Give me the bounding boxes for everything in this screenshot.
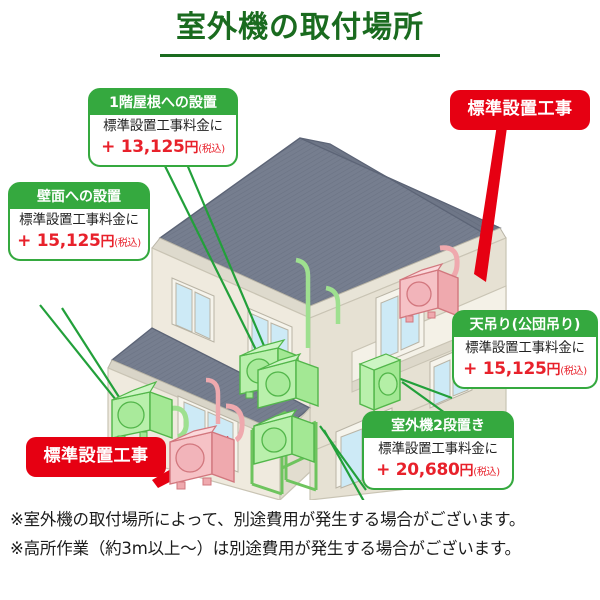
badge-standard-install-lower[interactable]: 標準設置工事	[26, 437, 166, 477]
badge-standard-install-upper[interactable]: 標準設置工事	[450, 90, 590, 130]
callout-roof-1f-price: + 13,125円(税込)	[96, 136, 230, 161]
ac-unit-ceiling-green	[360, 354, 400, 410]
callout-ceiling-hang-price: + 15,125円(税込)	[460, 358, 590, 383]
price-amount: 15,125	[483, 359, 547, 379]
callout-wall-body: 標準設置工事料金に + 15,125円(税込)	[10, 209, 148, 259]
footer-notes: ※室外機の取付場所によって、別途費用が発生する場合がございます。 ※高所作業（約…	[10, 505, 594, 563]
leader-wall-a	[40, 305, 120, 405]
price-prefix: +	[463, 359, 477, 379]
callout-wall-title: 壁面への設置	[10, 184, 148, 209]
price-tax: (税込)	[114, 238, 141, 249]
callout-two-tier-subtitle: 標準設置工事料金に	[370, 440, 506, 459]
footer-note-2: ※高所作業（約3m以上～）は別途費用が発生する場合がございます。	[10, 534, 594, 563]
callout-roof-1f-body: 標準設置工事料金に + 13,125円(税込)	[90, 115, 236, 165]
infographic-page: 室外機の取付場所	[0, 0, 600, 600]
footer-note-1: ※室外機の取付場所によって、別途費用が発生する場合がございます。	[10, 505, 594, 534]
price-prefix: +	[17, 231, 31, 251]
callout-wall[interactable]: 壁面への設置 標準設置工事料金に + 15,125円(税込)	[8, 182, 150, 261]
price-tax: (税込)	[198, 144, 225, 155]
callout-ceiling-hang[interactable]: 天吊り(公団吊り) 標準設置工事料金に + 15,125円(税込)	[452, 310, 598, 389]
price-unit: 円	[185, 140, 199, 156]
callout-roof-1f[interactable]: 1階屋根への設置 標準設置工事料金に + 13,125円(税込)	[88, 88, 238, 167]
price-prefix: +	[376, 460, 390, 480]
price-unit: 円	[460, 463, 474, 479]
page-title: 室外機の取付場所	[0, 8, 600, 48]
callout-ceiling-hang-title: 天吊り(公団吊り)	[454, 312, 596, 337]
callout-roof-1f-subtitle: 標準設置工事料金に	[96, 117, 230, 136]
price-tax: (税込)	[560, 366, 587, 377]
callout-wall-price: + 15,125円(税込)	[16, 230, 142, 255]
callout-two-tier[interactable]: 室外機2段置き 標準設置工事料金に + 20,680円(税込)	[362, 411, 514, 490]
price-amount: 20,680	[396, 460, 460, 480]
price-amount: 15,125	[37, 231, 101, 251]
callout-wall-subtitle: 標準設置工事料金に	[16, 211, 142, 230]
price-unit: 円	[547, 362, 561, 378]
title-underline	[160, 54, 440, 57]
callout-two-tier-title: 室外機2段置き	[364, 413, 512, 438]
price-unit: 円	[101, 234, 115, 250]
callout-roof-1f-title: 1階屋根への設置	[90, 90, 236, 115]
price-amount: 13,125	[121, 137, 185, 157]
price-tax: (税込)	[473, 467, 500, 478]
price-prefix: +	[101, 137, 115, 157]
callout-two-tier-price: + 20,680円(税込)	[370, 459, 506, 484]
callout-two-tier-body: 標準設置工事料金に + 20,680円(税込)	[364, 438, 512, 488]
callout-ceiling-hang-subtitle: 標準設置工事料金に	[460, 339, 590, 358]
callout-ceiling-hang-body: 標準設置工事料金に + 15,125円(税込)	[454, 337, 596, 387]
